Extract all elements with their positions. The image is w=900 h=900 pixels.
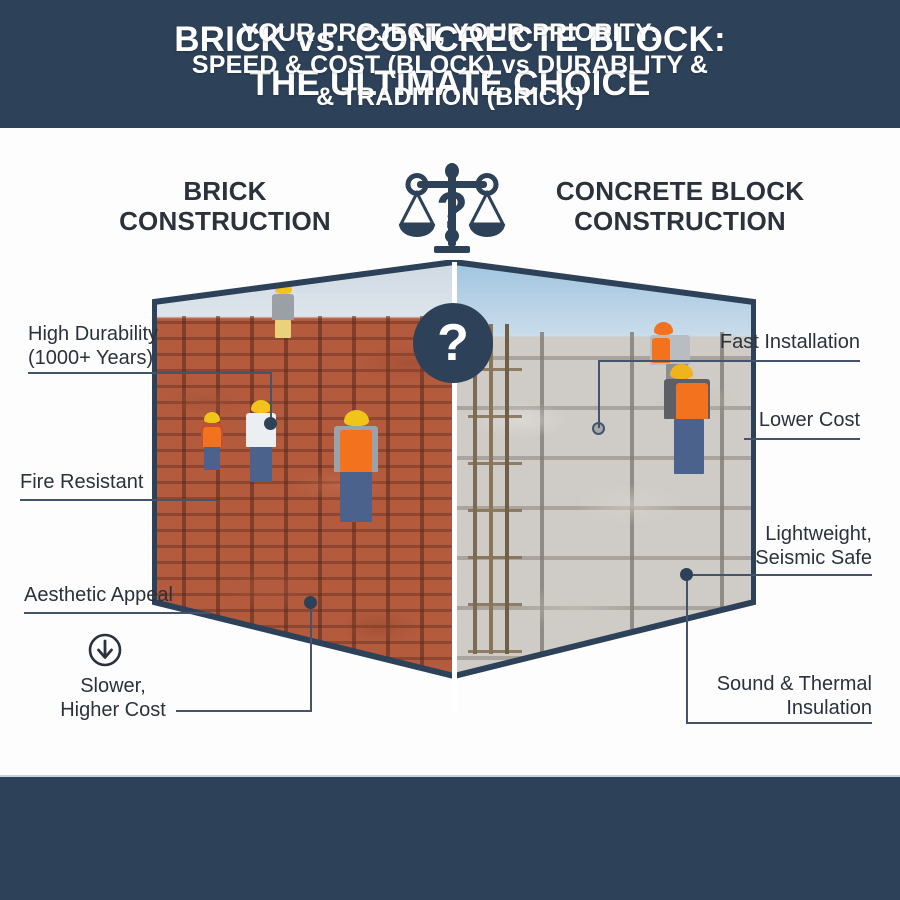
footer-line-2: SPEED & COST (BLOCK) vs DURABLITY &	[0, 49, 900, 81]
heading-block-line-2: CONSTRUCTION	[510, 206, 850, 236]
callout-lightweight-line-1: Lightweight,	[765, 523, 872, 545]
footer-tagline: YOUR PROJECT, YOUR PRIORITY: SPEED & COS…	[0, 17, 900, 113]
callout-rule	[20, 499, 216, 501]
callout-rule	[598, 360, 860, 362]
footer-band	[0, 775, 900, 900]
callout-connector	[686, 574, 688, 724]
callout-rule	[686, 722, 872, 724]
callout-connector	[270, 372, 272, 422]
callout-anchor-dot	[304, 596, 317, 609]
callout-fire-resistant: Fire Resistant	[20, 470, 143, 494]
heading-block-construction: CONCRETE BLOCK CONSTRUCTION	[510, 176, 850, 237]
down-arrow-circle-icon	[88, 633, 122, 667]
callout-lower-cost-line-1: Lower Cost	[759, 409, 860, 431]
callout-connector	[310, 606, 312, 712]
brick-construction-image	[152, 260, 454, 730]
callout-slower-higher-cost-line-2: Higher Cost	[58, 698, 168, 722]
callout-rule	[28, 372, 272, 374]
callout-fire-resistant-line-1: Fire Resistant	[20, 471, 143, 493]
callout-high-durability-line-2: (1000+ Years)	[28, 346, 158, 370]
worker-figure	[270, 282, 296, 338]
worker-figure	[244, 400, 278, 482]
callout-high-durability-line-1: High Durability	[28, 323, 158, 345]
callout-lower-cost: Lower Cost	[600, 408, 860, 432]
callout-rule	[690, 574, 872, 576]
callout-rule	[744, 438, 860, 440]
worker-figure	[332, 410, 380, 522]
callout-rule	[176, 710, 312, 712]
callout-slower-higher-cost-line-1: Slower,	[80, 675, 146, 697]
callout-fast-installation: Fast Installation	[560, 330, 860, 354]
callout-anchor-dot	[592, 422, 605, 435]
heading-brick-construction: BRICK CONSTRUCTION	[60, 176, 390, 237]
callout-sound-thermal-line-1: Sound & Thermal	[717, 673, 872, 695]
infographic-canvas: BRICK vs. CONCRECTE BLOCK: THE ULTIMATE …	[0, 0, 900, 900]
heading-brick-line-1: BRICK	[183, 176, 266, 206]
callout-aesthetic-appeal-line-1: Aesthetic Appeal	[24, 584, 173, 606]
heading-block-line-1: CONCRETE BLOCK	[556, 176, 804, 206]
callout-sound-thermal-line-2: Insulation	[600, 696, 872, 720]
balance-scale-question-icon: ?	[397, 162, 507, 258]
footer-line-3: & TRADITION (BRICK)	[0, 81, 900, 113]
callout-sound-thermal-insulation: Sound & Thermal Insulation	[600, 672, 872, 721]
callout-slower-higher-cost: Slower, Higher Cost	[58, 674, 168, 723]
worker-figure	[200, 412, 224, 470]
callout-aesthetic-appeal: Aesthetic Appeal	[24, 583, 173, 607]
callout-lightweight-seismic-safe: Lightweight, Seismic Safe	[600, 522, 872, 571]
callout-lightweight-line-2: Seismic Safe	[600, 546, 872, 570]
callout-anchor-dot	[264, 417, 277, 430]
callout-high-durability: High Durability (1000+ Years)	[28, 322, 158, 371]
callout-fast-installation-line-1: Fast Installation	[720, 331, 860, 353]
footer-line-1: YOUR PROJECT, YOUR PRIORITY:	[0, 17, 900, 49]
question-mark-badge: ?	[413, 303, 493, 383]
callout-anchor-dot	[680, 568, 693, 581]
heading-brick-line-2: CONSTRUCTION	[60, 206, 390, 236]
callout-rule	[24, 612, 210, 614]
svg-text:?: ?	[436, 182, 468, 240]
